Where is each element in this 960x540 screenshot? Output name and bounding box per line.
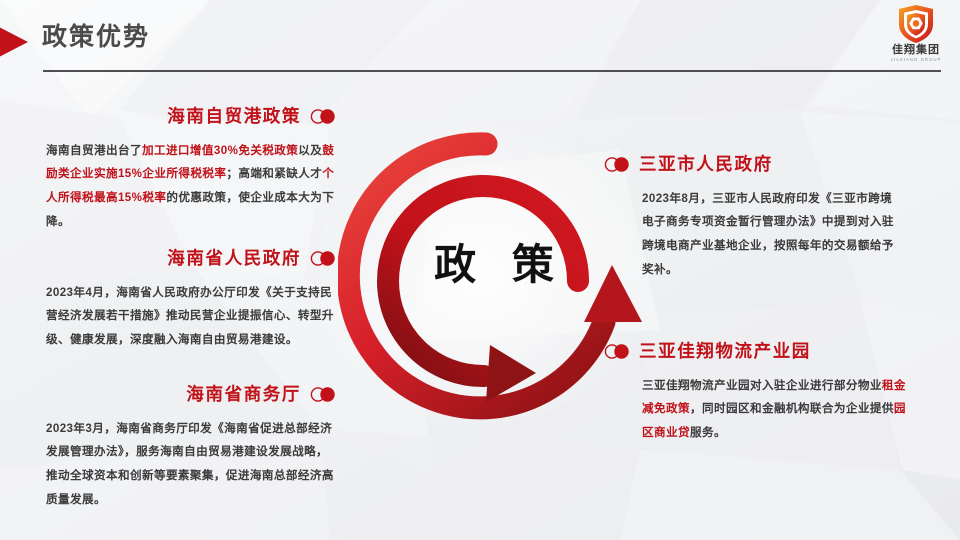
body-text: 2023年4月，海南省人民政府办公厅印发《关于支持民营经济发展若干措施》推动民营…: [46, 286, 334, 347]
policy-block-hainan-gov: 海南省人民政府 2023年4月，海南省人民政府办公厅印发《关于支持民营经济发展若…: [46, 250, 336, 352]
slide: 政策优势 佳翔集团 JIAXIANG GROUP: [0, 0, 960, 540]
two-circles-icon: [310, 251, 336, 266]
two-circles-icon: [604, 157, 630, 172]
block-body: 2023年3月，海南省商务厅印发《海南省促进总部经济发展管理办法》，服务海南自由…: [46, 417, 336, 513]
block-title: 海南省人民政府: [167, 250, 301, 268]
block-body: 2023年8月，三亚市人民政府印发《三亚市跨境电子商务专项资金暂行管理办法》中提…: [642, 187, 904, 283]
policy-block-sanya-gov: 三亚市人民政府 2023年8月，三亚市人民政府印发《三亚市跨境电子商务专项资金暂…: [604, 156, 904, 282]
policy-block-hainan-moc: 海南省商务厅 2023年3月，海南省商务厅印发《海南省促进总部经济发展管理办法》…: [46, 386, 336, 512]
logo-name-en: JIAXIANG GROUP: [891, 58, 942, 62]
block-body: 2023年4月，海南省人民政府办公厅印发《关于支持民营经济发展若干措施》推动民营…: [46, 281, 336, 353]
block-title: 三亚佳翔物流产业园: [639, 343, 811, 361]
body-text: 以及: [298, 144, 322, 157]
body-text: ；高端和紧缺人才: [226, 167, 322, 180]
block-title: 海南自贸港政策: [167, 108, 301, 126]
page-title: 政策优势: [42, 25, 150, 50]
block-body: 三亚佳翔物流产业园对入驻企业进行部分物业租金减免政策，同时园区和金融机构联合为企…: [642, 374, 916, 446]
two-circles-icon: [604, 344, 630, 359]
block-header: 海南省商务厅: [46, 386, 336, 404]
policy-block-hainan-ftp: 海南自贸港政策 海南自贸港出台了加工进口增值30%免关税政策以及鼓励类企业实施1…: [46, 108, 336, 234]
body-text: 2023年3月，海南省商务厅印发《海南省促进总部经济发展管理办法》，服务海南自由…: [46, 422, 334, 507]
block-header: 三亚市人民政府: [604, 156, 904, 174]
policy-block-sanya-park: 三亚佳翔物流产业园 三亚佳翔物流产业园对入驻企业进行部分物业租金减免政策，同时园…: [604, 343, 916, 445]
block-header: 海南省人民政府: [46, 250, 336, 268]
right-triangle-icon: [0, 16, 28, 68]
block-header: 海南自贸港政策: [46, 108, 336, 126]
header-divider: [43, 70, 941, 72]
body-text: 服务。: [690, 426, 726, 439]
body-text: 三亚佳翔物流产业园对入驻企业进行部分物业: [642, 379, 882, 392]
body-text: 海南自贸港出台了: [46, 144, 142, 157]
slide-header: 政策优势: [0, 0, 960, 78]
body-text: 2023年8月，三亚市人民政府印发《三亚市跨境电子商务专项资金暂行管理办法》中提…: [642, 192, 894, 277]
highlighted-text: 加工进口增值30%免关税政策: [142, 144, 298, 157]
shield-icon: [897, 4, 935, 44]
brand-logo: 佳翔集团 JIAXIANG GROUP: [882, 4, 950, 66]
logo-name-cn: 佳翔集团: [892, 45, 940, 56]
block-body: 海南自贸港出台了加工进口增值30%免关税政策以及鼓励类企业实施15%企业所得税税…: [46, 139, 336, 235]
two-circles-icon: [310, 109, 336, 124]
block-header: 三亚佳翔物流产业园: [604, 343, 916, 361]
two-circles-icon: [310, 387, 336, 402]
block-title: 海南省商务厅: [186, 386, 301, 404]
body-text: ，同时园区和金融机构联合为企业提供: [690, 402, 894, 415]
block-title: 三亚市人民政府: [639, 156, 773, 174]
